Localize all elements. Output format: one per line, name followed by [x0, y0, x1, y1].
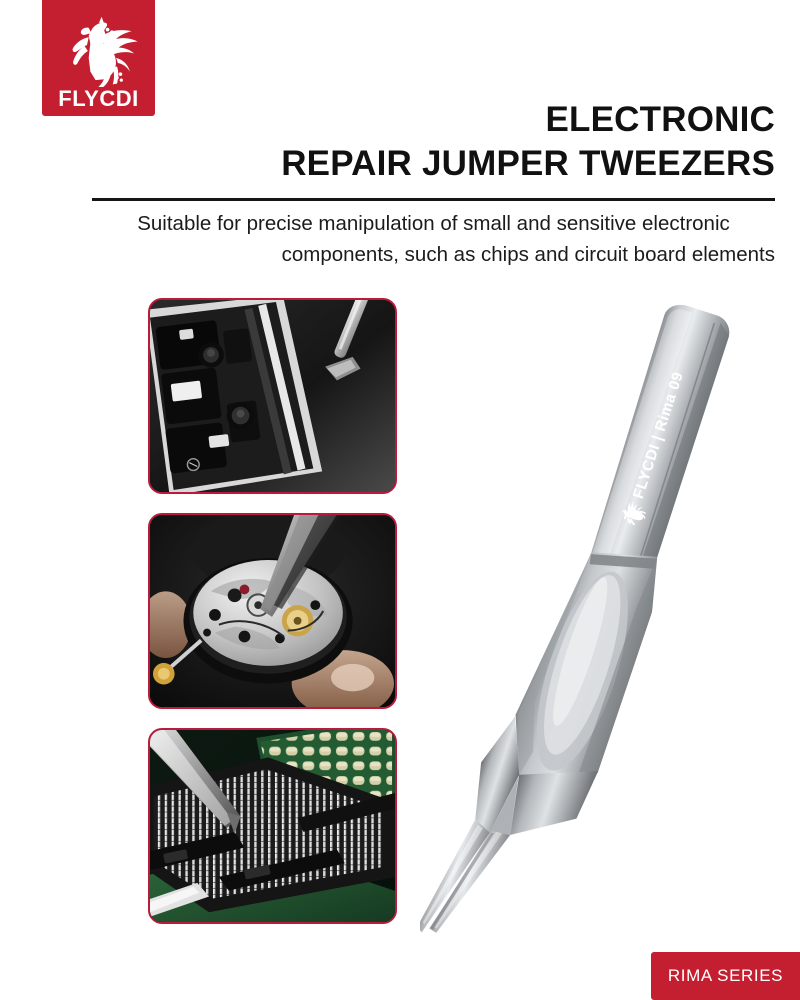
product-image-tweezers: FLYCDI | Rima 09	[420, 290, 740, 950]
pegasus-icon	[56, 15, 142, 87]
gallery-image-watch-movement[interactable]	[148, 513, 397, 709]
series-badge: RIMA SERIES	[651, 952, 800, 1000]
page-subtitle: Suitable for precise manipulation of sma…	[92, 208, 775, 270]
tweezers-illustration: FLYCDI | Rima 09	[420, 290, 740, 950]
watch-movement-illustration	[150, 515, 395, 707]
header-divider	[92, 198, 775, 201]
page-title-line-2: REPAIR JUMPER TWEEZERS	[155, 142, 775, 186]
phone-disassembly-illustration	[150, 300, 395, 492]
brand-logo-badge: FLYCDI	[42, 0, 155, 116]
series-badge-label: RIMA SERIES	[668, 966, 783, 986]
gallery-image-phone-disassembly[interactable]	[148, 298, 397, 494]
page-title: ELECTRONIC REPAIR JUMPER TWEEZERS	[155, 98, 775, 186]
gallery-image-cpu-socket[interactable]	[148, 728, 397, 924]
poster-page: FLYCDI ELECTRONIC REPAIR JUMPER TWEEZERS…	[0, 0, 800, 1000]
brand-logo-wordmark: FLYCDI	[58, 88, 138, 110]
page-subtitle-line-1: Suitable for precise manipulation of sma…	[92, 208, 775, 239]
page-subtitle-line-2: components, such as chips and circuit bo…	[92, 239, 775, 270]
cpu-socket-illustration	[150, 730, 395, 922]
page-title-line-1: ELECTRONIC	[546, 100, 776, 139]
